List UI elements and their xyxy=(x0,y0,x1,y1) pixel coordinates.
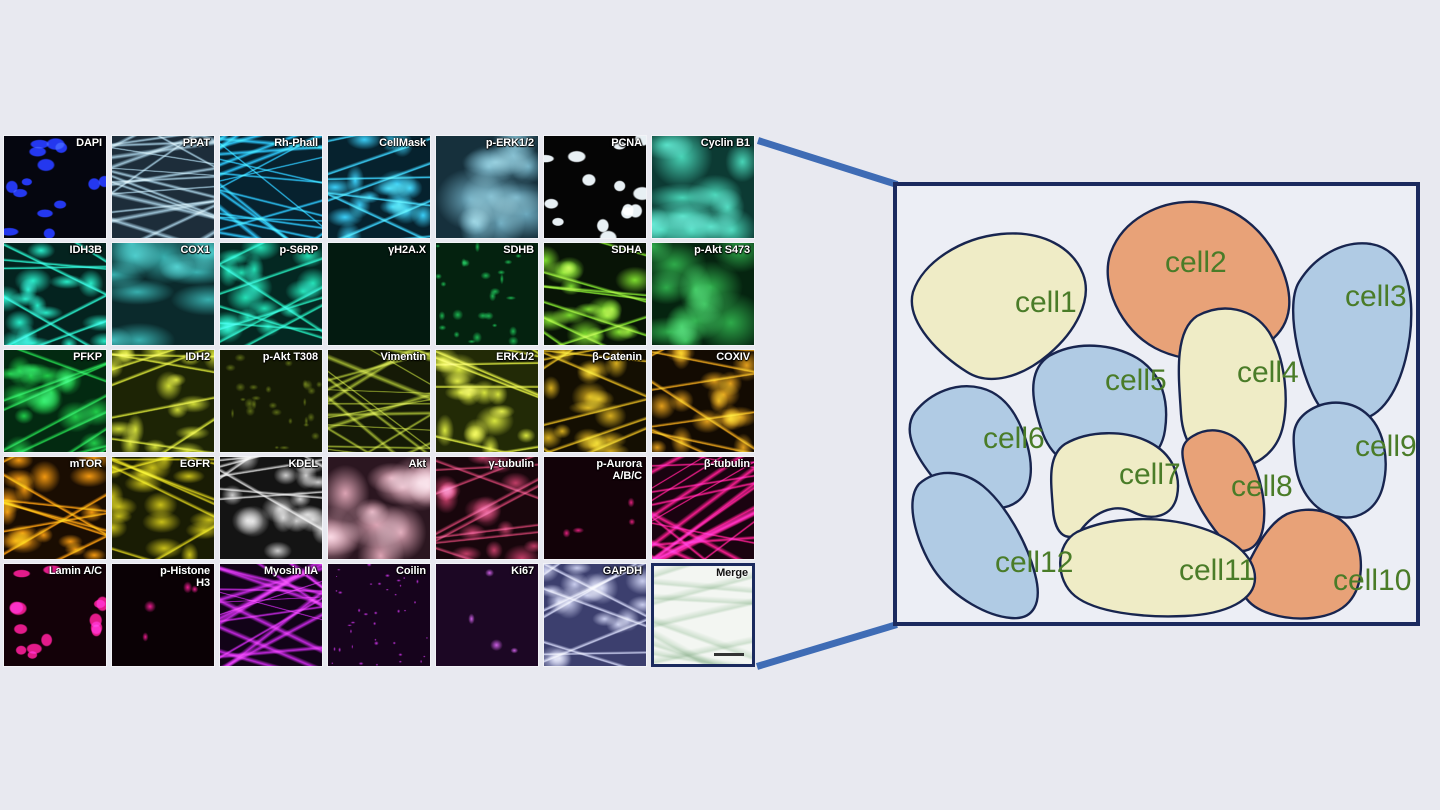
marker-tile-idh3b[interactable]: IDH3B xyxy=(3,242,107,346)
marker-channel-image xyxy=(4,564,106,666)
marker-tile-dapi[interactable]: DAPI xyxy=(3,135,107,239)
marker-label: PCNA xyxy=(548,138,642,150)
cell-outline-cell3[interactable] xyxy=(1293,243,1411,421)
marker-label: SDHB xyxy=(440,245,534,257)
figure-canvas: DAPIPPATRh-PhallCellMaskp-ERK1/2PCNACycl… xyxy=(0,0,1440,810)
marker-tile-p-erk1-2[interactable]: p-ERK1/2 xyxy=(435,135,539,239)
cell-label-cell1: cell1 xyxy=(1015,286,1077,319)
marker-label: Cyclin B1 xyxy=(656,138,750,150)
marker-label: Lamin A/C xyxy=(8,566,102,578)
marker-tile-ppat[interactable]: PPAT xyxy=(111,135,215,239)
marker-label: p-ERK1/2 xyxy=(440,138,534,150)
marker-channel-image xyxy=(220,136,322,238)
marker-channel-image xyxy=(652,243,754,345)
marker-channel-image xyxy=(220,564,322,666)
marker-tile-pfkp[interactable]: PFKP xyxy=(3,349,107,453)
marker-channel-image xyxy=(652,136,754,238)
marker-channel-image xyxy=(4,457,106,559)
marker-label: β-tubulin xyxy=(656,459,750,471)
cell-label-cell8: cell8 xyxy=(1231,470,1293,503)
marker-tile-β-tubulin[interactable]: β-tubulin xyxy=(651,456,755,560)
cell-label-cell11: cell11 xyxy=(1179,554,1255,587)
marker-label: COXIV xyxy=(656,352,750,364)
marker-grid-row: DAPIPPATRh-PhallCellMaskp-ERK1/2PCNACycl… xyxy=(3,135,757,239)
top-connector xyxy=(757,137,898,188)
marker-tile-sdhb[interactable]: SDHB xyxy=(435,242,539,346)
marker-label: KDEL xyxy=(224,459,318,471)
marker-label: ERK1/2 xyxy=(440,352,534,364)
marker-tile-coilin[interactable]: Coilin xyxy=(327,563,431,667)
marker-channel-image xyxy=(328,457,430,559)
marker-label: Coilin xyxy=(332,566,426,578)
marker-channel-image xyxy=(436,243,538,345)
marker-label: PPAT xyxy=(116,138,210,150)
marker-channel-image xyxy=(220,350,322,452)
marker-channel-image xyxy=(544,564,646,666)
marker-channel-image xyxy=(4,136,106,238)
marker-tile-pcna[interactable]: PCNA xyxy=(543,135,647,239)
marker-tile-cox1[interactable]: COX1 xyxy=(111,242,215,346)
marker-channel-image xyxy=(112,136,214,238)
marker-label: PFKP xyxy=(8,352,102,364)
cell-label-cell5: cell5 xyxy=(1105,364,1167,397)
marker-label: p-Akt S473 xyxy=(656,245,750,257)
cell-label-cell9: cell9 xyxy=(1355,430,1416,463)
marker-label: p-Aurora A/B/C xyxy=(548,459,642,482)
marker-channel-image xyxy=(4,350,106,452)
marker-channel-image xyxy=(112,457,214,559)
marker-channel-image xyxy=(436,564,538,666)
bottom-connector xyxy=(756,621,898,670)
marker-label: EGFR xyxy=(116,459,210,471)
marker-tile-akt[interactable]: Akt xyxy=(327,456,431,560)
marker-grid-row: mTOREGFRKDELAktγ-tubulinp-Aurora A/B/Cβ-… xyxy=(3,456,757,560)
marker-label: Merge xyxy=(658,568,748,580)
marker-label: DAPI xyxy=(8,138,102,150)
marker-label: CellMask xyxy=(332,138,426,150)
cell-label-cell2: cell2 xyxy=(1165,246,1227,279)
marker-channel-image xyxy=(436,457,538,559)
marker-tile-kdel[interactable]: KDEL xyxy=(219,456,323,560)
cell-segmentation-svg: cell1cell2cell3cell4cell5cell6cell7cell8… xyxy=(897,186,1416,622)
marker-grid: DAPIPPATRh-PhallCellMaskp-ERK1/2PCNACycl… xyxy=(3,135,757,675)
marker-channel-image xyxy=(652,457,754,559)
marker-tile-p-s6rp[interactable]: p-S6RP xyxy=(219,242,323,346)
marker-tile-rh-phall[interactable]: Rh-Phall xyxy=(219,135,323,239)
marker-label: Ki67 xyxy=(440,566,534,578)
marker-channel-image xyxy=(328,564,430,666)
cell-segmentation-detail-box: cell1cell2cell3cell4cell5cell6cell7cell8… xyxy=(893,182,1420,626)
cell-label-cell7: cell7 xyxy=(1119,458,1181,491)
marker-label: p-S6RP xyxy=(224,245,318,257)
marker-channel-image xyxy=(220,457,322,559)
marker-label: Vimentin xyxy=(332,352,426,364)
marker-label: SDHA xyxy=(548,245,642,257)
marker-label: IDH2 xyxy=(116,352,210,364)
marker-channel-image xyxy=(112,350,214,452)
marker-channel-image xyxy=(544,136,646,238)
marker-tile-sdha[interactable]: SDHA xyxy=(543,242,647,346)
marker-grid-row: PFKPIDH2p-Akt T308VimentinERK1/2β-Cateni… xyxy=(3,349,757,453)
marker-tile-erk1-2[interactable]: ERK1/2 xyxy=(435,349,539,453)
marker-label: COX1 xyxy=(116,245,210,257)
marker-channel-image xyxy=(436,136,538,238)
marker-tile-idh2[interactable]: IDH2 xyxy=(111,349,215,453)
marker-tile-coxiv[interactable]: COXIV xyxy=(651,349,755,453)
marker-channel-image xyxy=(112,243,214,345)
marker-channel-image xyxy=(220,243,322,345)
marker-tile-mtor[interactable]: mTOR xyxy=(3,456,107,560)
marker-channel-image xyxy=(544,243,646,345)
marker-channel-image xyxy=(4,243,106,345)
marker-channel-image xyxy=(652,350,754,452)
cell-label-cell6: cell6 xyxy=(983,422,1045,455)
marker-label: γ-tubulin xyxy=(440,459,534,471)
marker-label: Myosin IIA xyxy=(224,566,318,578)
marker-tile-γh2a.x[interactable]: γH2A.X xyxy=(327,242,431,346)
marker-label: β-Catenin xyxy=(548,352,642,364)
marker-label: IDH3B xyxy=(8,245,102,257)
marker-label: p-Akt T308 xyxy=(224,352,318,364)
marker-tile-cyclin-b1[interactable]: Cyclin B1 xyxy=(651,135,755,239)
marker-label: mTOR xyxy=(8,459,102,471)
marker-tile-gapdh[interactable]: GAPDH xyxy=(543,563,647,667)
cell-label-cell12: cell12 xyxy=(995,546,1073,579)
cell-label-cell4: cell4 xyxy=(1237,356,1299,389)
marker-tile-vimentin[interactable]: Vimentin xyxy=(327,349,431,453)
marker-tile-p-histone-h3[interactable]: p-Histone H3 xyxy=(111,563,215,667)
marker-label: Akt xyxy=(332,459,426,471)
marker-channel-image xyxy=(328,350,430,452)
marker-grid-row: IDH3BCOX1p-S6RPγH2A.XSDHBSDHAp-Akt S473 xyxy=(3,242,757,346)
marker-tile-p-akt-s473[interactable]: p-Akt S473 xyxy=(651,242,755,346)
marker-tile-p-akt-t308[interactable]: p-Akt T308 xyxy=(219,349,323,453)
marker-label: Rh-Phall xyxy=(224,138,318,150)
marker-channel-image xyxy=(436,350,538,452)
marker-channel-image xyxy=(544,350,646,452)
marker-label: p-Histone H3 xyxy=(116,566,210,589)
marker-label: GAPDH xyxy=(548,566,642,578)
marker-grid-row: Lamin A/Cp-Histone H3Myosin IIACoilinKi6… xyxy=(3,563,757,667)
cell-label-cell10: cell10 xyxy=(1333,564,1411,597)
marker-tile-p-aurora-a-b-c[interactable]: p-Aurora A/B/C xyxy=(543,456,647,560)
marker-tile-egfr[interactable]: EGFR xyxy=(111,456,215,560)
marker-tile-lamin-a-c[interactable]: Lamin A/C xyxy=(3,563,107,667)
marker-tile-myosin-iia[interactable]: Myosin IIA xyxy=(219,563,323,667)
marker-channel-image xyxy=(328,136,430,238)
marker-channel-image xyxy=(328,243,430,345)
marker-tile-cellmask[interactable]: CellMask xyxy=(327,135,431,239)
cell-label-cell3: cell3 xyxy=(1345,280,1407,313)
marker-label: γH2A.X xyxy=(332,245,426,257)
marker-channel-image xyxy=(654,566,752,664)
marker-tile-ki67[interactable]: Ki67 xyxy=(435,563,539,667)
marker-tile-γ-tubulin[interactable]: γ-tubulin xyxy=(435,456,539,560)
marker-tile-merge[interactable]: Merge xyxy=(651,563,755,667)
marker-tile-β-catenin[interactable]: β-Catenin xyxy=(543,349,647,453)
scale-bar xyxy=(714,653,744,656)
